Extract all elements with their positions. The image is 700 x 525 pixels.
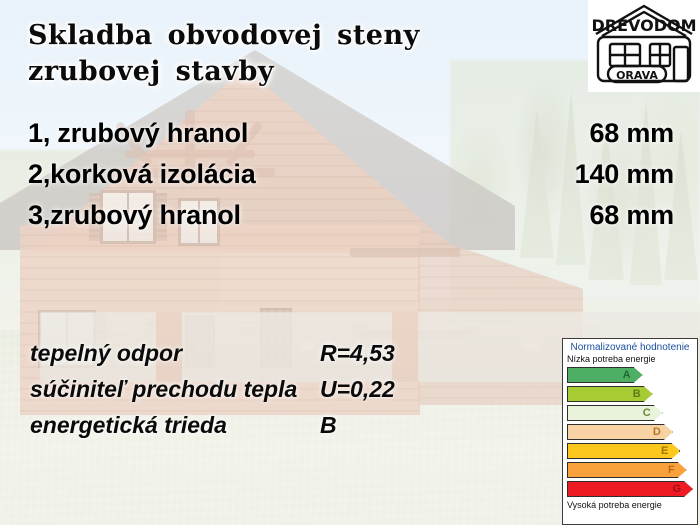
energy-class-letter: C (643, 408, 662, 419)
list-item: 3,zrubový hranol 68 mm (28, 200, 674, 241)
wall-layer-list: 1, zrubový hranol 68 mm 2,korková izolác… (28, 118, 674, 241)
layer-thickness: 140 mm (575, 159, 674, 190)
logo-region-text: ORAVA (616, 69, 658, 82)
performance-value: R=4,53 (320, 340, 395, 367)
energy-bar-d: D (567, 423, 693, 442)
energy-bar-b: B (567, 385, 693, 404)
energy-panel-title: Normalizované hodnotenie (567, 342, 693, 354)
energy-class-letter: F (668, 465, 686, 476)
energy-class-letter: A (623, 370, 642, 381)
energy-class-letter: B (633, 389, 652, 400)
list-item: 1, zrubový hranol 68 mm (28, 118, 674, 159)
list-item: 2,korková izolácia 140 mm (28, 159, 674, 200)
energy-low-text: Nízka potreba energie (567, 354, 693, 365)
energy-bar-shape: C (567, 405, 663, 421)
energy-class-letter: E (661, 446, 679, 457)
performance-label: energetická trieda (30, 412, 320, 439)
logo-brand-text: DREVODOM (591, 16, 696, 35)
energy-high-text: Vysoká potreba energie (567, 500, 693, 511)
performance-label: tepelný odpor (30, 340, 320, 367)
energy-bar-shape: A (567, 367, 643, 383)
performance-value: U=0,22 (320, 376, 395, 403)
energy-class-bars: A B C D E F G (567, 366, 693, 499)
energy-bar-c: C (567, 404, 693, 423)
title-line-1: Skladba obvodovej steny (28, 18, 568, 54)
energy-bar-shape: D (567, 424, 673, 440)
company-logo: DREVODOM ORAVA (588, 0, 700, 92)
energy-bar-shape: F (567, 462, 687, 478)
drevodom-orava-logo-icon: DREVODOM ORAVA (588, 0, 700, 92)
layer-thickness: 68 mm (589, 118, 674, 149)
list-item: súčiniteľ prechodu tepla U=0,22 (30, 376, 460, 412)
thermal-performance-list: tepelný odpor R=4,53 súčiniteľ prechodu … (30, 340, 460, 448)
poster: DREVODOM ORAVA Skladba obvodovej steny z… (0, 0, 700, 525)
title-line-2: zrubovej stavby (28, 54, 568, 90)
content-layer: DREVODOM ORAVA Skladba obvodovej steny z… (0, 0, 700, 525)
list-item: energetická trieda B (30, 412, 460, 448)
layer-label: 1, zrubový hranol (28, 118, 248, 149)
performance-label: súčiniteľ prechodu tepla (30, 376, 320, 403)
energy-bar-shape: G (567, 481, 693, 497)
performance-value: B (320, 412, 337, 439)
energy-bar-g: G (567, 480, 693, 499)
energy-bar-e: E (567, 442, 693, 461)
energy-bar-shape: E (567, 443, 680, 459)
energy-rating-panel: Normalizované hodnotenie Nízka potreba e… (562, 338, 698, 525)
energy-bar-a: A (567, 366, 693, 385)
energy-class-letter: D (653, 427, 672, 438)
energy-bar-f: F (567, 461, 693, 480)
layer-label: 2,korková izolácia (28, 159, 256, 190)
layer-thickness: 68 mm (589, 200, 674, 231)
energy-bar-shape: B (567, 386, 653, 402)
page-title: Skladba obvodovej steny zrubovej stavby (28, 18, 568, 90)
list-item: tepelný odpor R=4,53 (30, 340, 460, 376)
layer-label: 3,zrubový hranol (28, 200, 241, 231)
energy-class-letter: G (672, 484, 692, 495)
